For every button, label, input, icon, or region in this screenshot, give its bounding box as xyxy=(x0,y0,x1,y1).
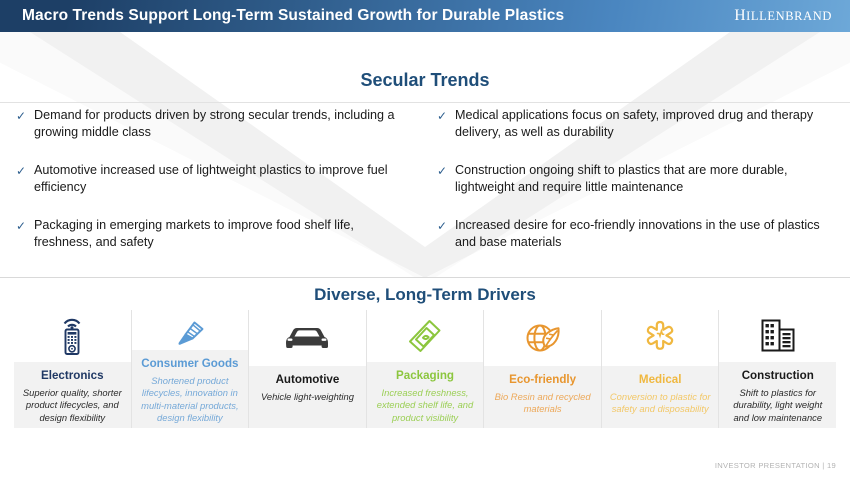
driver-card-packaging[interactable]: Packaging Increased freshness, extended … xyxy=(367,310,485,428)
buildings-icon xyxy=(755,315,801,357)
driver-cards-row: Electronics Superior quality, shorter pr… xyxy=(14,310,836,428)
checkmark-icon: ✓ xyxy=(16,217,34,235)
logo-rest: ILLENBRAND xyxy=(746,9,832,23)
card-desc: Increased freshness, extended shelf life… xyxy=(373,387,478,424)
checkmark-icon: ✓ xyxy=(437,107,455,125)
globe-leaf-icon xyxy=(521,319,565,357)
driver-card-electronics[interactable]: Electronics Superior quality, shorter pr… xyxy=(14,310,132,428)
card-desc: Shift to plastics for durability, light … xyxy=(725,387,830,424)
card-icon-wrap xyxy=(249,310,366,366)
footer-note: INVESTOR PRESENTATION | 19 xyxy=(715,461,836,470)
bullet-text: Packaging in emerging markets to improve… xyxy=(34,217,403,251)
checkmark-icon: ✓ xyxy=(437,162,455,180)
secular-trends-section: Secular Trends ✓ Demand for products dri… xyxy=(0,32,850,278)
card-desc: Superior quality, shorter product lifecy… xyxy=(20,387,125,424)
bullet-column-left: ✓ Demand for products driven by strong s… xyxy=(0,107,425,272)
slide-root: Macro Trends Support Long-Term Sustained… xyxy=(0,0,850,478)
card-desc: Shortened product lifecycles, innovation… xyxy=(138,375,243,424)
checkmark-icon: ✓ xyxy=(16,107,34,125)
hillenbrand-logo: HILLENBRAND xyxy=(734,7,836,25)
section-divider-top xyxy=(0,102,850,103)
card-body: Medical Conversion to plastic for safety… xyxy=(602,366,719,428)
driver-card-construction[interactable]: Construction Shift to plastics for durab… xyxy=(719,310,836,428)
bullet-text: Automotive increased use of lightweight … xyxy=(34,162,403,196)
card-body: Eco-friendly Bio Resin and recycled mate… xyxy=(484,366,601,428)
card-title: Eco-friendly xyxy=(490,373,595,386)
car-icon xyxy=(281,321,333,355)
toothbrush-icon xyxy=(169,310,211,350)
driver-card-consumer-goods[interactable]: Consumer Goods Shortened product lifecyc… xyxy=(132,310,250,428)
card-icon-wrap xyxy=(602,310,719,366)
drivers-section: Diverse, Long-Term Drivers xyxy=(0,278,850,478)
card-desc: Conversion to plastic for safety and dis… xyxy=(608,391,713,416)
bullet-item: ✓ Demand for products driven by strong s… xyxy=(16,107,403,141)
card-icon-wrap xyxy=(367,310,484,362)
card-icon-wrap xyxy=(14,310,131,362)
bullet-column-right: ✓ Medical applications focus on safety, … xyxy=(425,107,850,272)
card-title: Consumer Goods xyxy=(138,357,243,370)
page-title: Macro Trends Support Long-Term Sustained… xyxy=(22,7,564,25)
card-body: Packaging Increased freshness, extended … xyxy=(367,362,484,428)
card-title: Medical xyxy=(608,373,713,386)
bullet-text: Construction ongoing shift to plastics t… xyxy=(455,162,828,196)
bullet-item: ✓ Increased desire for eco-friendly inno… xyxy=(437,217,828,251)
card-desc: Vehicle light-weighting xyxy=(255,391,360,403)
logo-initial: H xyxy=(734,7,746,24)
card-title: Construction xyxy=(725,369,830,382)
header-bar: Macro Trends Support Long-Term Sustained… xyxy=(0,0,850,32)
card-title: Automotive xyxy=(255,373,360,386)
bullet-item: ✓ Automotive increased use of lightweigh… xyxy=(16,162,403,196)
card-body: Construction Shift to plastics for durab… xyxy=(719,362,836,428)
bullet-item: ✓ Medical applications focus on safety, … xyxy=(437,107,828,141)
bullet-item: ✓ Construction ongoing shift to plastics… xyxy=(437,162,828,196)
bullet-text: Increased desire for eco-friendly innova… xyxy=(455,217,828,251)
drivers-title: Diverse, Long-Term Drivers xyxy=(0,285,850,305)
bullets-container: ✓ Demand for products driven by strong s… xyxy=(0,107,850,272)
checkmark-icon: ✓ xyxy=(16,162,34,180)
bullet-text: Demand for products driven by strong sec… xyxy=(34,107,403,141)
package-icon xyxy=(404,316,446,356)
bullet-item: ✓ Packaging in emerging markets to impro… xyxy=(16,217,403,251)
checkmark-icon: ✓ xyxy=(437,217,455,235)
card-body: Automotive Vehicle light-weighting xyxy=(249,366,366,428)
card-title: Packaging xyxy=(373,369,478,382)
card-icon-wrap xyxy=(484,310,601,366)
card-desc: Bio Resin and recycled materials xyxy=(490,391,595,416)
driver-card-eco-friendly[interactable]: Eco-friendly Bio Resin and recycled mate… xyxy=(484,310,602,428)
card-icon-wrap xyxy=(132,310,249,350)
star-of-life-icon xyxy=(640,318,680,358)
remote-control-icon xyxy=(55,316,89,356)
driver-card-medical[interactable]: Medical Conversion to plastic for safety… xyxy=(602,310,720,428)
driver-card-automotive[interactable]: Automotive Vehicle light-weighting xyxy=(249,310,367,428)
card-body: Consumer Goods Shortened product lifecyc… xyxy=(132,350,249,428)
card-title: Electronics xyxy=(20,369,125,382)
card-body: Electronics Superior quality, shorter pr… xyxy=(14,362,131,428)
card-icon-wrap xyxy=(719,310,836,362)
bullet-text: Medical applications focus on safety, im… xyxy=(455,107,828,141)
secular-trends-title: Secular Trends xyxy=(0,70,850,91)
